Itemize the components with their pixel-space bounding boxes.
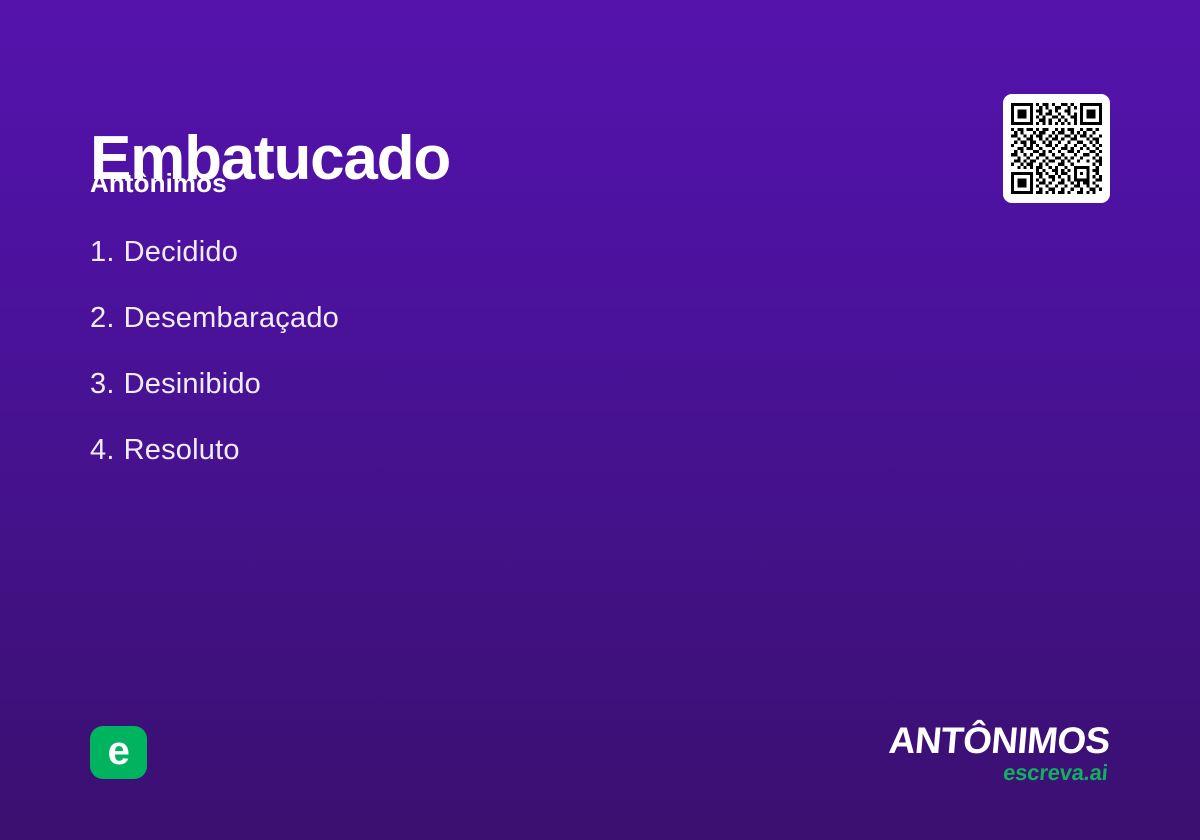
qr-code-icon <box>1011 103 1102 194</box>
qr-code-card[interactable] <box>1003 94 1110 203</box>
escreva-logo-icon[interactable]: e <box>90 726 147 779</box>
list-item-label: Resoluto <box>124 434 240 467</box>
wordmark-title: ANTÔNIMOS <box>888 722 1112 760</box>
brand-wordmark: ANTÔNIMOS escreva.ai <box>889 722 1110 784</box>
brand-badge-letter: e <box>108 731 130 771</box>
list-item: 1. Decidido <box>90 236 870 302</box>
list-item: 2. Desembaraçado <box>90 302 870 368</box>
list-item-index: 2. <box>90 302 115 335</box>
category-label: Antônimos <box>90 168 227 199</box>
list-item-index: 3. <box>90 368 115 401</box>
list-item: 4. Resoluto <box>90 434 870 500</box>
antonyms-card: Embatucado Antônimos 1. Decidido 2. Dese… <box>0 0 1200 840</box>
list-item-label: Desinibido <box>124 368 261 401</box>
list-item-label: Decidido <box>124 236 238 269</box>
list-item-label: Desembaraçado <box>124 302 339 335</box>
wordmark-subtitle: escreva.ai <box>888 761 1109 784</box>
list-item-index: 4. <box>90 434 115 467</box>
list-item-index: 1. <box>90 236 115 269</box>
list-item: 3. Desinibido <box>90 368 870 434</box>
antonyms-list: 1. Decidido 2. Desembaraçado 3. Desinibi… <box>90 236 870 500</box>
